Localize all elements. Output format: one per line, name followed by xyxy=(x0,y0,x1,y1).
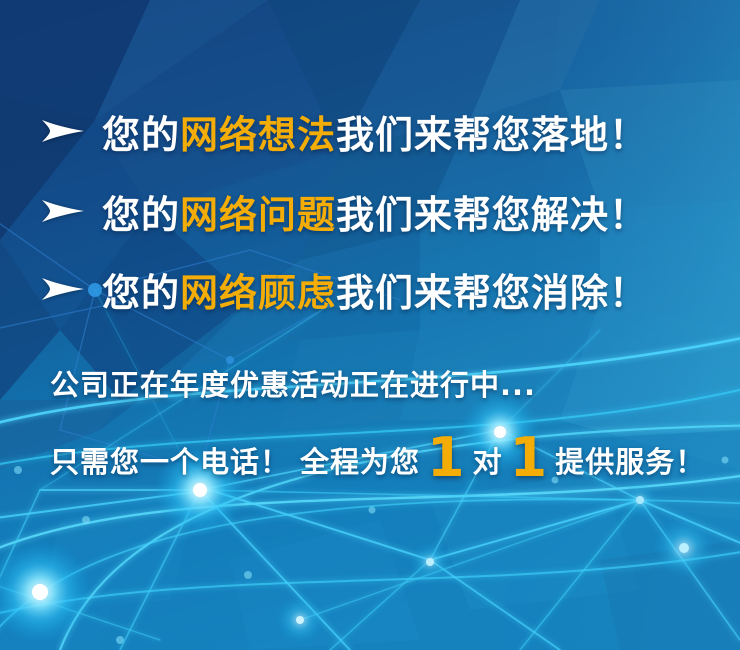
headline-3-suffix: 我们来帮您消除！ xyxy=(336,271,648,315)
headline-3: 您的网络顾虑我们来帮您消除！ xyxy=(102,262,648,317)
service-middle: 对 xyxy=(473,439,503,481)
promotional-banner: 您的网络想法我们来帮您落地！ 您的网络问题我们来帮您解决！ 您的网络顾虑我们来帮… xyxy=(0,0,740,650)
arrow-right-icon xyxy=(40,118,86,144)
bullet-row-1: 您的网络想法我们来帮您落地！ xyxy=(0,105,648,157)
headline-3-highlight: 网络顾虑 xyxy=(180,271,336,315)
headline-1-suffix: 我们来帮您落地！ xyxy=(336,113,648,157)
headline-3-prefix: 您的 xyxy=(102,271,180,315)
service-part-3: 提供服务！ xyxy=(555,439,705,481)
promo-text: 公司正在年度优惠活动正在进行中... xyxy=(50,362,536,404)
headline-2-prefix: 您的 xyxy=(102,193,180,237)
arrow-right-icon xyxy=(40,198,86,224)
headline-1-prefix: 您的 xyxy=(102,113,180,157)
bullet-row-2: 您的网络问题我们来帮您解决！ xyxy=(0,185,648,237)
bullet-row-3: 您的网络顾虑我们来帮您消除！ xyxy=(0,263,648,315)
headline-2-highlight: 网络问题 xyxy=(180,193,336,237)
service-text: 只需您一个电话！ 全程为您 1 对 1 提供服务！ xyxy=(50,432,705,481)
headline-1-highlight: 网络想法 xyxy=(180,113,336,157)
service-number-2: 1 xyxy=(503,436,556,479)
headline-2-suffix: 我们来帮您解决！ xyxy=(336,193,648,237)
headline-2: 您的网络问题我们来帮您解决！ xyxy=(102,184,648,239)
headline-1: 您的网络想法我们来帮您落地！ xyxy=(102,104,648,159)
service-part-1: 只需您一个电话！ xyxy=(50,439,290,481)
service-number-1: 1 xyxy=(420,436,473,479)
banner-content: 您的网络想法我们来帮您落地！ 您的网络问题我们来帮您解决！ 您的网络顾虑我们来帮… xyxy=(0,0,740,650)
service-part-2: 全程为您 xyxy=(300,439,420,481)
arrow-right-icon xyxy=(40,276,86,302)
